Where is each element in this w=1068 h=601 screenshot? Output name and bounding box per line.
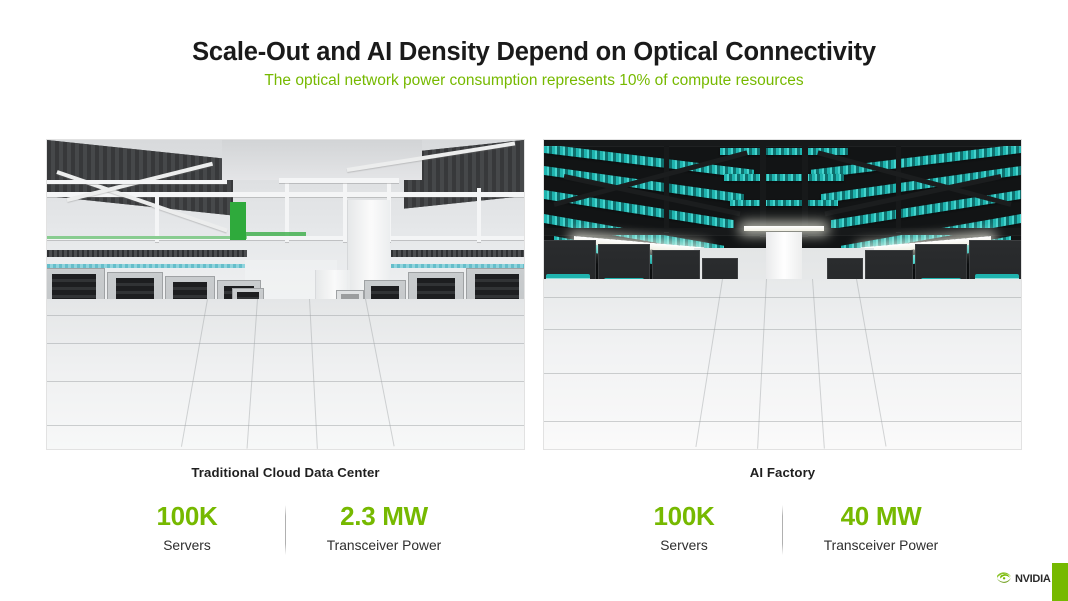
- stat-servers-ai-factory: 100K Servers: [586, 503, 782, 553]
- stat-label: Servers: [586, 538, 782, 553]
- corner-accent-bar: [1052, 563, 1068, 601]
- panel-traditional-cloud-data-center: Traditional Cloud Data Center 100K Serve…: [46, 139, 525, 555]
- panel-caption-ai-factory: AI Factory: [543, 465, 1022, 480]
- stat-servers-traditional: 100K Servers: [89, 503, 285, 553]
- stat-value: 2.3 MW: [286, 503, 482, 530]
- slide-header: Scale-Out and AI Density Depend on Optic…: [0, 38, 1068, 91]
- stat-label: Transceiver Power: [783, 538, 979, 553]
- ai-factory-data-center-photo: [543, 139, 1022, 450]
- nvidia-eye-icon: [996, 570, 1012, 588]
- page-title: Scale-Out and AI Density Depend on Optic…: [0, 38, 1068, 67]
- stat-transceiver-power-traditional: 2.3 MW Transceiver Power: [286, 503, 482, 553]
- stat-value: 100K: [586, 503, 782, 530]
- nvidia-logo: NVIDIA: [996, 570, 1050, 588]
- traditional-cloud-data-center-photo: [46, 139, 525, 450]
- page-subtitle: The optical network power consumption re…: [0, 72, 1068, 91]
- panel-caption-traditional: Traditional Cloud Data Center: [46, 465, 525, 480]
- stat-value: 40 MW: [783, 503, 979, 530]
- nvidia-wordmark: NVIDIA: [1015, 574, 1050, 585]
- panel-ai-factory: AI Factory 100K Servers 40 MW Transceive…: [543, 139, 1022, 555]
- stat-label: Transceiver Power: [286, 538, 482, 553]
- stats-row-traditional: 100K Servers 2.3 MW Transceiver Power: [46, 503, 525, 555]
- stat-label: Servers: [89, 538, 285, 553]
- stat-value: 100K: [89, 503, 285, 530]
- stat-transceiver-power-ai-factory: 40 MW Transceiver Power: [783, 503, 979, 553]
- stats-row-ai-factory: 100K Servers 40 MW Transceiver Power: [543, 503, 1022, 555]
